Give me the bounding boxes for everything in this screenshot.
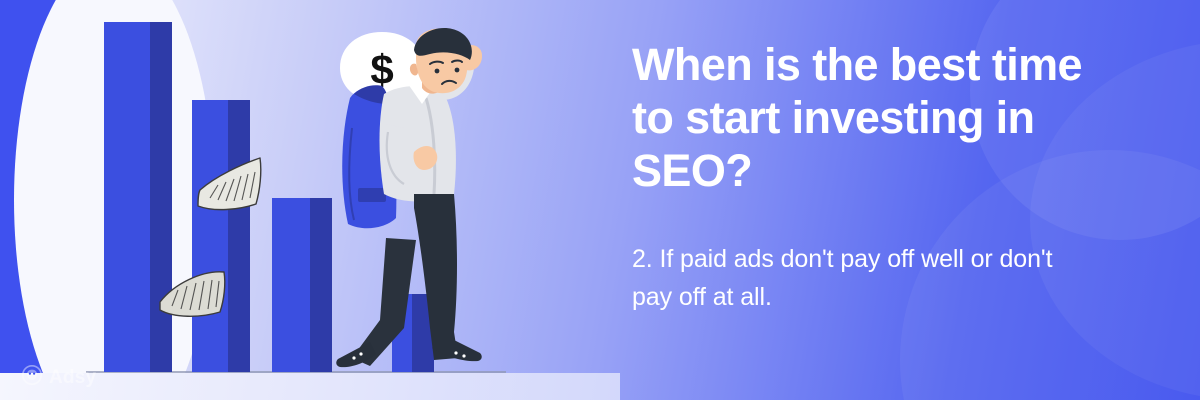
adsy-logo[interactable]: Adsy: [22, 365, 96, 390]
subtext: 2. If paid ads don't pay off well or don…: [632, 240, 1082, 316]
worried-businessman-illustration: $: [330, 28, 520, 376]
seo-promo-banner: $: [0, 0, 1200, 400]
flying-paper-2: [158, 262, 230, 322]
owl-mark-icon: [22, 365, 42, 390]
bar-face: [272, 198, 310, 372]
flying-paper-1: [196, 154, 266, 216]
chart-bar-2: [192, 100, 250, 372]
bar-side: [310, 198, 332, 372]
text-column: When is the best time to start investing…: [632, 0, 1132, 400]
illustration-stage: $: [0, 0, 620, 400]
bar-face: [104, 22, 150, 372]
bar-face: [192, 100, 228, 372]
logo-text: Adsy: [49, 367, 96, 389]
chart-bar-3: [272, 198, 332, 372]
bar-side: [228, 100, 250, 372]
headline: When is the best time to start investing…: [632, 38, 1102, 197]
